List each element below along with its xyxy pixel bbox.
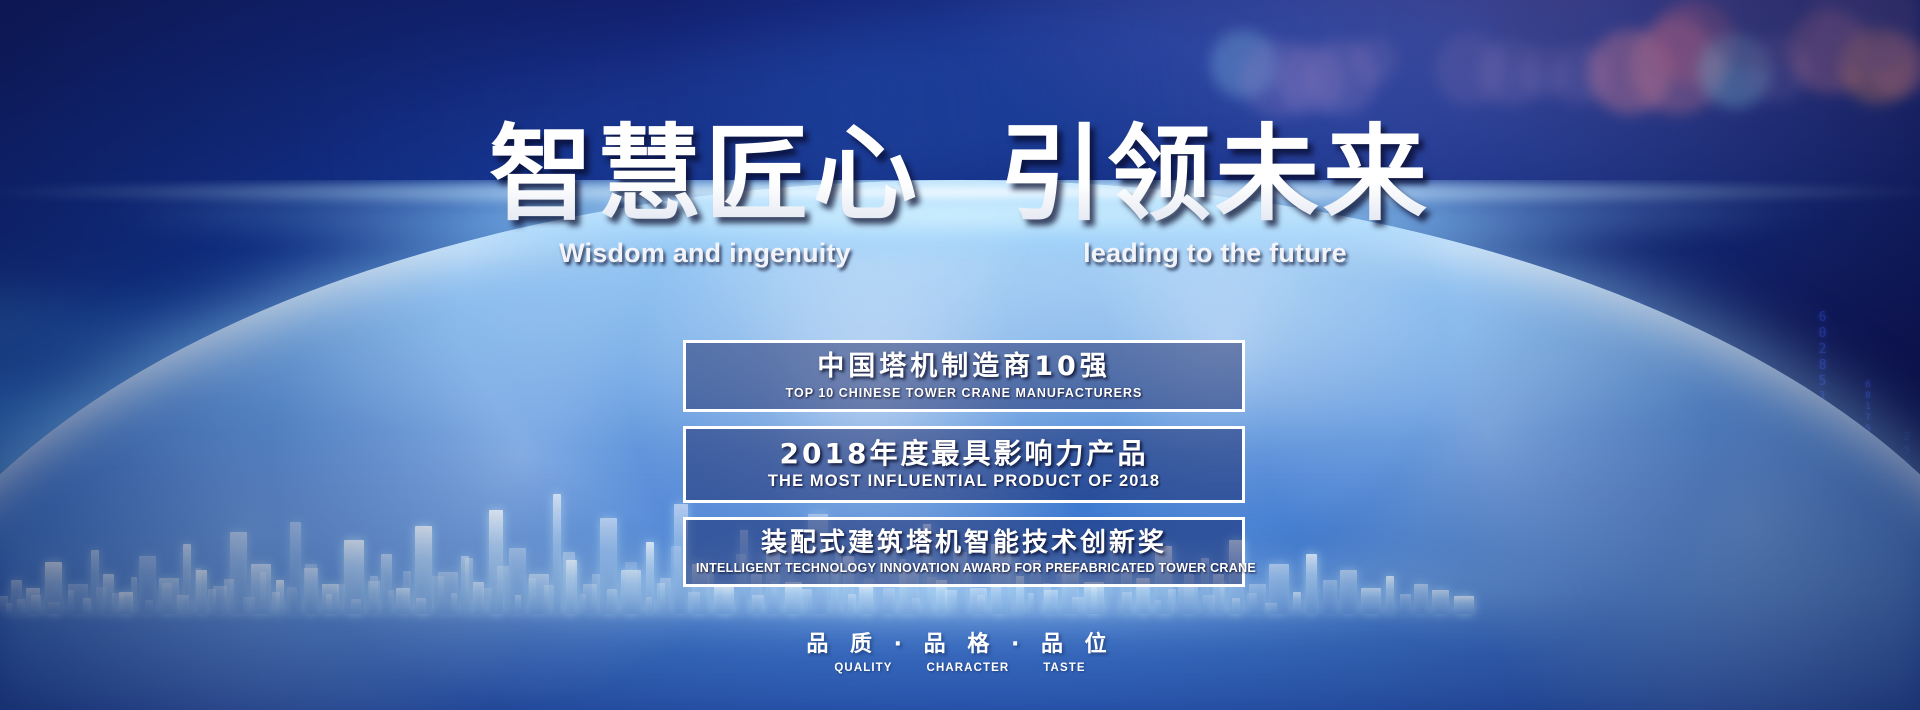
award-title-en: THE MOST INFLUENTIAL PRODUCT OF 2018 xyxy=(696,472,1232,491)
tagline-word-character: CHARACTER xyxy=(927,662,1010,674)
headline-group: 智慧匠心 Wisdom and ingenuity 引领未来 leading t… xyxy=(0,118,1920,269)
award-title-cn: 2018年度最具影响力产品 xyxy=(696,437,1232,470)
headline-chinese-right: 引领未来 xyxy=(999,118,1431,230)
tagline-group: 品 质 · 品 格 · 品 位 QUALITY CHARACTER TASTE xyxy=(0,632,1920,674)
headline-chinese-left: 智慧匠心 xyxy=(489,118,921,230)
tagline-word-taste: TASTE xyxy=(1043,662,1085,674)
tagline-chinese: 品 质 · 品 格 · 品 位 xyxy=(806,632,1113,658)
award-list: 中国塔机制造商10强 TOP 10 CHINESE TOWER CRANE MA… xyxy=(683,340,1245,587)
tagline-word-quality: QUALITY xyxy=(834,662,892,674)
tagline-english: QUALITY CHARACTER TASTE xyxy=(834,662,1085,674)
award-title-cn: 装配式建筑塔机智能技术创新奖 xyxy=(696,528,1232,559)
headline-english-left: Wisdom and ingenuity xyxy=(559,238,851,269)
headline-english-right: leading to the future xyxy=(1083,238,1347,269)
headline-block-left: 智慧匠心 Wisdom and ingenuity xyxy=(489,118,921,269)
award-title-en: INTELLIGENT TECHNOLOGY INNOVATION AWARD … xyxy=(696,561,1232,575)
award-box: 装配式建筑塔机智能技术创新奖 INTELLIGENT TECHNOLOGY IN… xyxy=(683,517,1245,587)
headline-block-right: 引领未来 leading to the future xyxy=(999,118,1431,269)
award-box: 2018年度最具影响力产品 THE MOST INFLUENTIAL PRODU… xyxy=(683,426,1245,503)
award-box: 中国塔机制造商10强 TOP 10 CHINESE TOWER CRANE MA… xyxy=(683,340,1245,412)
hero-banner: 0921472659321729458962609219583623906827… xyxy=(0,0,1920,710)
award-title-cn: 中国塔机制造商10强 xyxy=(696,351,1232,383)
award-title-en: TOP 10 CHINESE TOWER CRANE MANUFACTURERS xyxy=(696,386,1232,400)
